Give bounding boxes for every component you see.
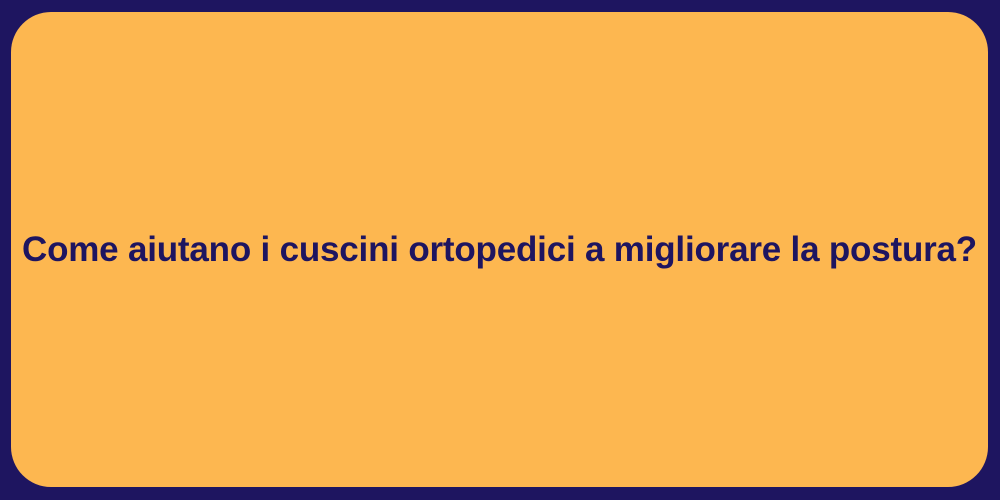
page-title: Come aiutano i cuscini ortopedici a migl… — [22, 228, 977, 272]
outer-frame: Come aiutano i cuscini ortopedici a migl… — [0, 0, 1000, 500]
headline-card: Come aiutano i cuscini ortopedici a migl… — [11, 12, 988, 487]
